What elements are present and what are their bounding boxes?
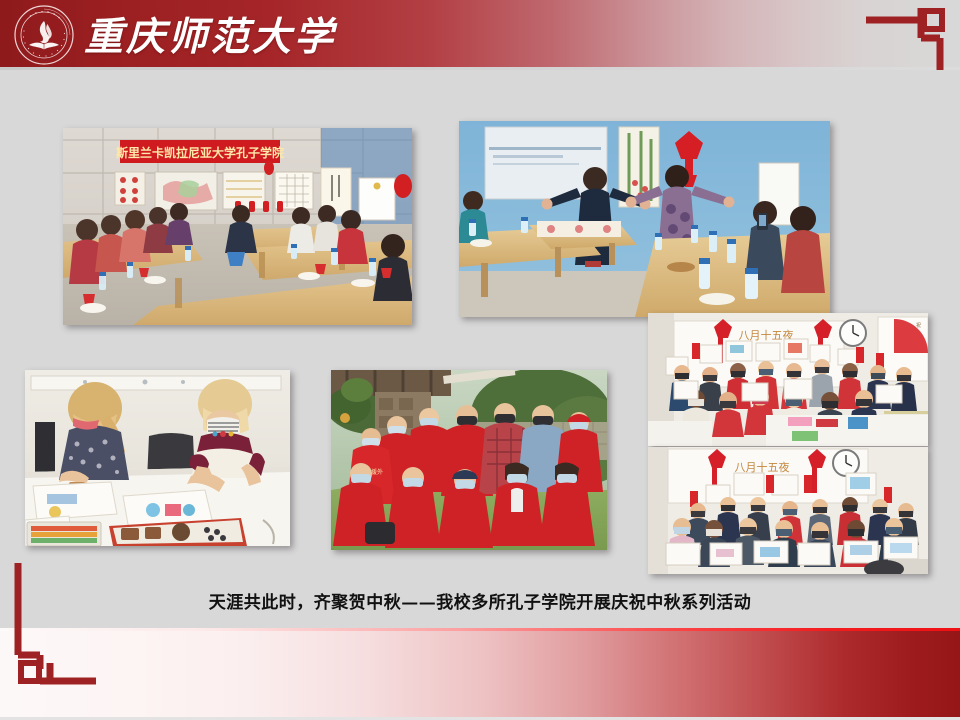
- svg-text:八月十五夜: 八月十五夜: [735, 460, 790, 474]
- presentation-slide: 重庆师范大学: [0, 0, 960, 720]
- photo-red-jacket-group[interactable]: 中国援外: [331, 370, 607, 550]
- chinese-meander-corner-top-right-icon: [866, 8, 948, 70]
- footer-accent-line: [0, 628, 960, 631]
- photo-children-artwork-upper[interactable]: 祝 八月十五夜: [648, 313, 928, 446]
- footer-band: [0, 628, 960, 718]
- photo-kelaniya-classroom[interactable]: 斯里兰卡凯拉尼亚大学孔子学院: [63, 128, 412, 325]
- photo-two-presenters[interactable]: [459, 121, 830, 317]
- svg-text:祝: 祝: [916, 322, 921, 329]
- chinese-meander-corner-bottom-left-icon: [14, 563, 96, 687]
- university-seal-logo: [14, 5, 74, 65]
- svg-text:斯里兰卡凯拉尼亚大学孔子学院: 斯里兰卡凯拉尼亚大学孔子学院: [116, 145, 284, 160]
- page-title: 重庆师范大学: [84, 2, 336, 66]
- photo-children-artwork-lower[interactable]: 八月十五夜: [648, 447, 928, 574]
- photo-girls-coloring[interactable]: [25, 370, 290, 546]
- header-underline: [0, 67, 960, 70]
- slide-caption: 天涯共此时，齐聚贺中秋——我校多所孔子学院开展庆祝中秋系列活动: [0, 588, 960, 613]
